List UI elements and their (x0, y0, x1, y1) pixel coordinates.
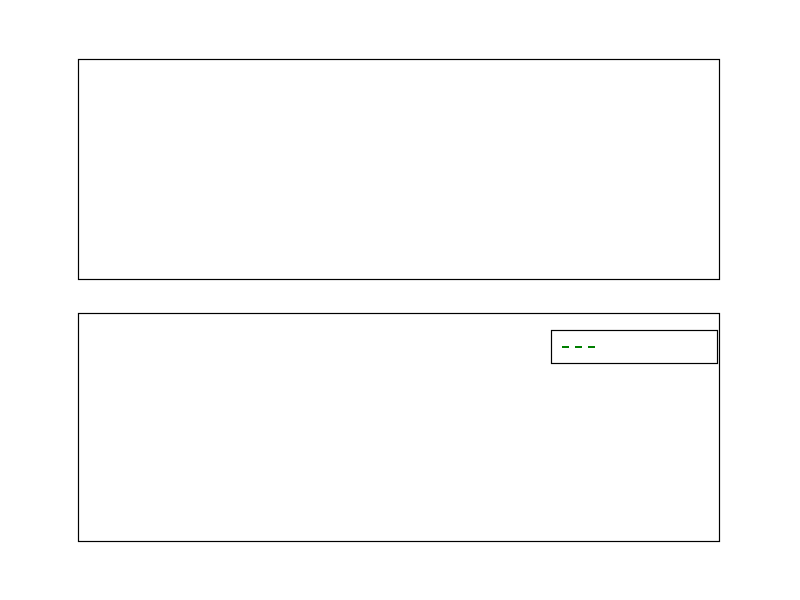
legend[interactable] (552, 331, 718, 364)
figure-canvas (0, 0, 800, 600)
matplotlib-figure (0, 0, 800, 600)
figure-background (0, 0, 800, 600)
